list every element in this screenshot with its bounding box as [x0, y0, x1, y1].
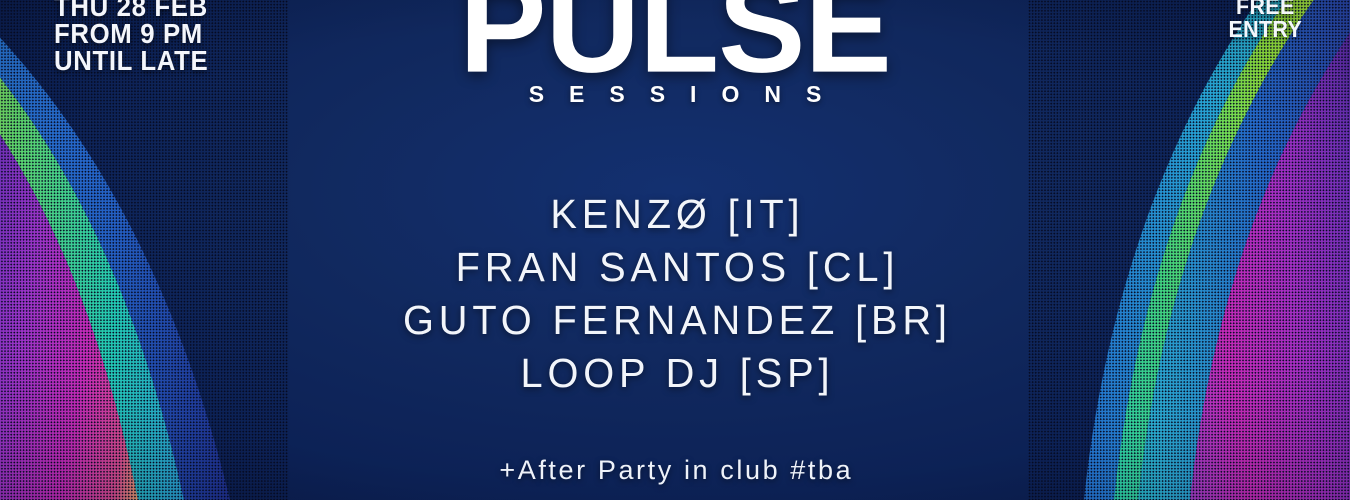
artist-name: LOOP DJ [SP] — [20, 347, 1330, 400]
afterparty-note: +After Party in club #tba — [0, 455, 1350, 485]
artist-name: GUTO FERNANDEZ [BR] — [20, 294, 1330, 347]
brand-logo: PULSE SESSIONS — [0, 0, 1350, 106]
event-flyer: THU 28 FEB FROM 9 PM UNTIL LATE FREE ENT… — [0, 0, 1350, 500]
artist-name: FRAN SANTOS [CL] — [20, 241, 1330, 294]
logo-title: PULSE — [0, 0, 1350, 77]
artist-name: KENZØ [IT] — [20, 188, 1330, 241]
artist-lineup: KENZØ [IT] FRAN SANTOS [CL] GUTO FERNAND… — [0, 188, 1350, 400]
